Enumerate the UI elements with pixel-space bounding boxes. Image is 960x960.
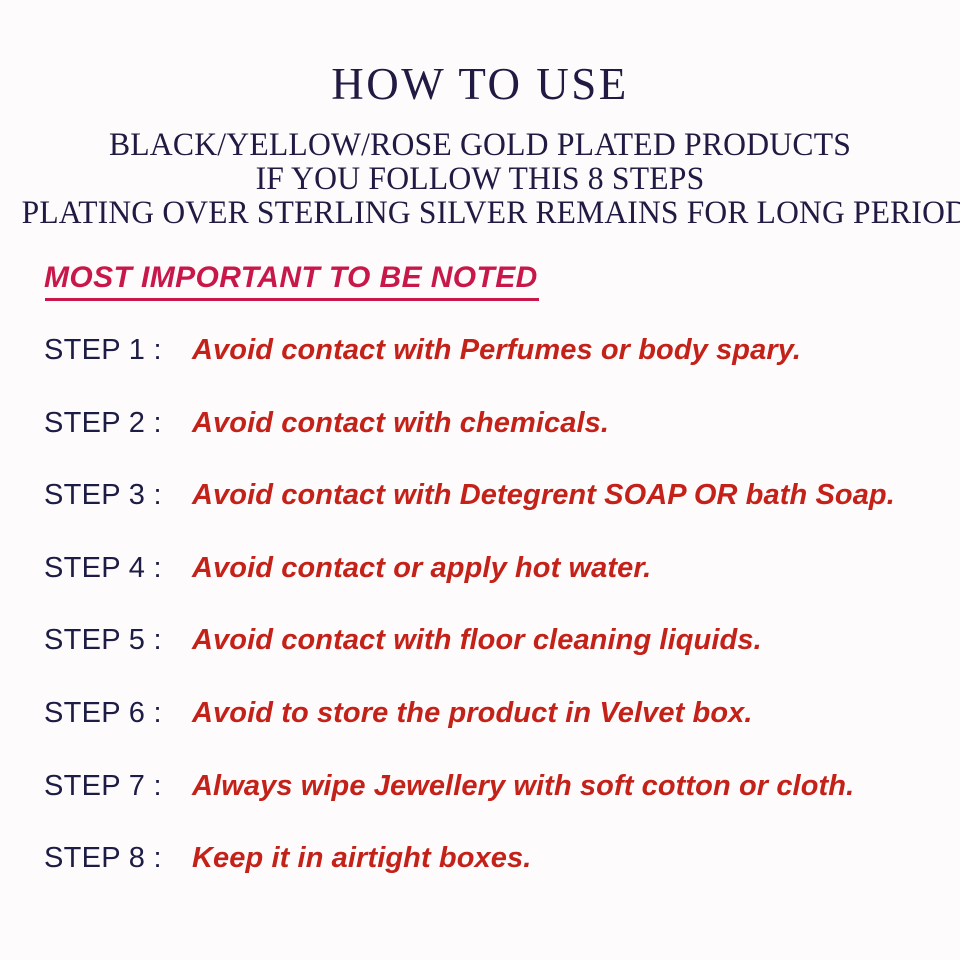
step-row: STEP 1 :Avoid contact with Perfumes or b… bbox=[0, 334, 960, 407]
step-instruction: Avoid contact with Perfumes or body spar… bbox=[192, 334, 801, 366]
step-row: STEP 3 :Avoid contact with Detegrent SOA… bbox=[0, 479, 960, 552]
step-instruction: Always wipe Jewellery with soft cotton o… bbox=[192, 770, 854, 802]
step-label: STEP 7 : bbox=[44, 770, 162, 802]
page-title: HOW TO USE bbox=[0, 62, 960, 107]
subtitle-line-2: IF YOU FOLLOW THIS 8 STEPS bbox=[19, 162, 941, 196]
step-instruction: Avoid contact with chemicals. bbox=[192, 407, 609, 439]
step-instruction: Avoid contact or apply hot water. bbox=[192, 552, 651, 584]
step-label: STEP 6 : bbox=[44, 697, 162, 729]
step-row: STEP 2 :Avoid contact with chemicals. bbox=[0, 407, 960, 480]
step-label: STEP 1 : bbox=[44, 334, 162, 366]
step-row: STEP 8 :Keep it in airtight boxes. bbox=[0, 842, 960, 915]
step-row: STEP 5 :Avoid contact with floor cleanin… bbox=[0, 624, 960, 697]
step-instruction: Avoid contact with Detegrent SOAP OR bat… bbox=[192, 479, 895, 511]
notice-heading: MOST IMPORTANT TO BE NOTED bbox=[44, 262, 644, 294]
step-label: STEP 4 : bbox=[44, 552, 162, 584]
subtitle-block: BLACK/YELLOW/ROSE GOLD PLATED PRODUCTS I… bbox=[0, 128, 960, 230]
subtitle-line-1: BLACK/YELLOW/ROSE GOLD PLATED PRODUCTS bbox=[19, 128, 941, 162]
notice-underline bbox=[45, 298, 539, 301]
steps-list: STEP 1 :Avoid contact with Perfumes or b… bbox=[0, 334, 960, 915]
step-row: STEP 4 :Avoid contact or apply hot water… bbox=[0, 552, 960, 625]
step-instruction: Keep it in airtight boxes. bbox=[192, 842, 531, 874]
subtitle-line-3: PLATING OVER STERLING SILVER REMAINS FOR… bbox=[22, 196, 939, 230]
step-label: STEP 3 : bbox=[44, 479, 162, 511]
step-row: STEP 7 :Always wipe Jewellery with soft … bbox=[0, 770, 960, 843]
step-row: STEP 6 :Avoid to store the product in Ve… bbox=[0, 697, 960, 770]
step-instruction: Avoid to store the product in Velvet box… bbox=[192, 697, 753, 729]
step-instruction: Avoid contact with floor cleaning liquid… bbox=[192, 624, 762, 656]
step-label: STEP 5 : bbox=[44, 624, 162, 656]
notice-heading-label: MOST IMPORTANT TO BE NOTED bbox=[44, 262, 538, 294]
step-label: STEP 8 : bbox=[44, 842, 162, 874]
care-instructions-poster: HOW TO USE BLACK/YELLOW/ROSE GOLD PLATED… bbox=[0, 0, 960, 960]
step-label: STEP 2 : bbox=[44, 407, 162, 439]
